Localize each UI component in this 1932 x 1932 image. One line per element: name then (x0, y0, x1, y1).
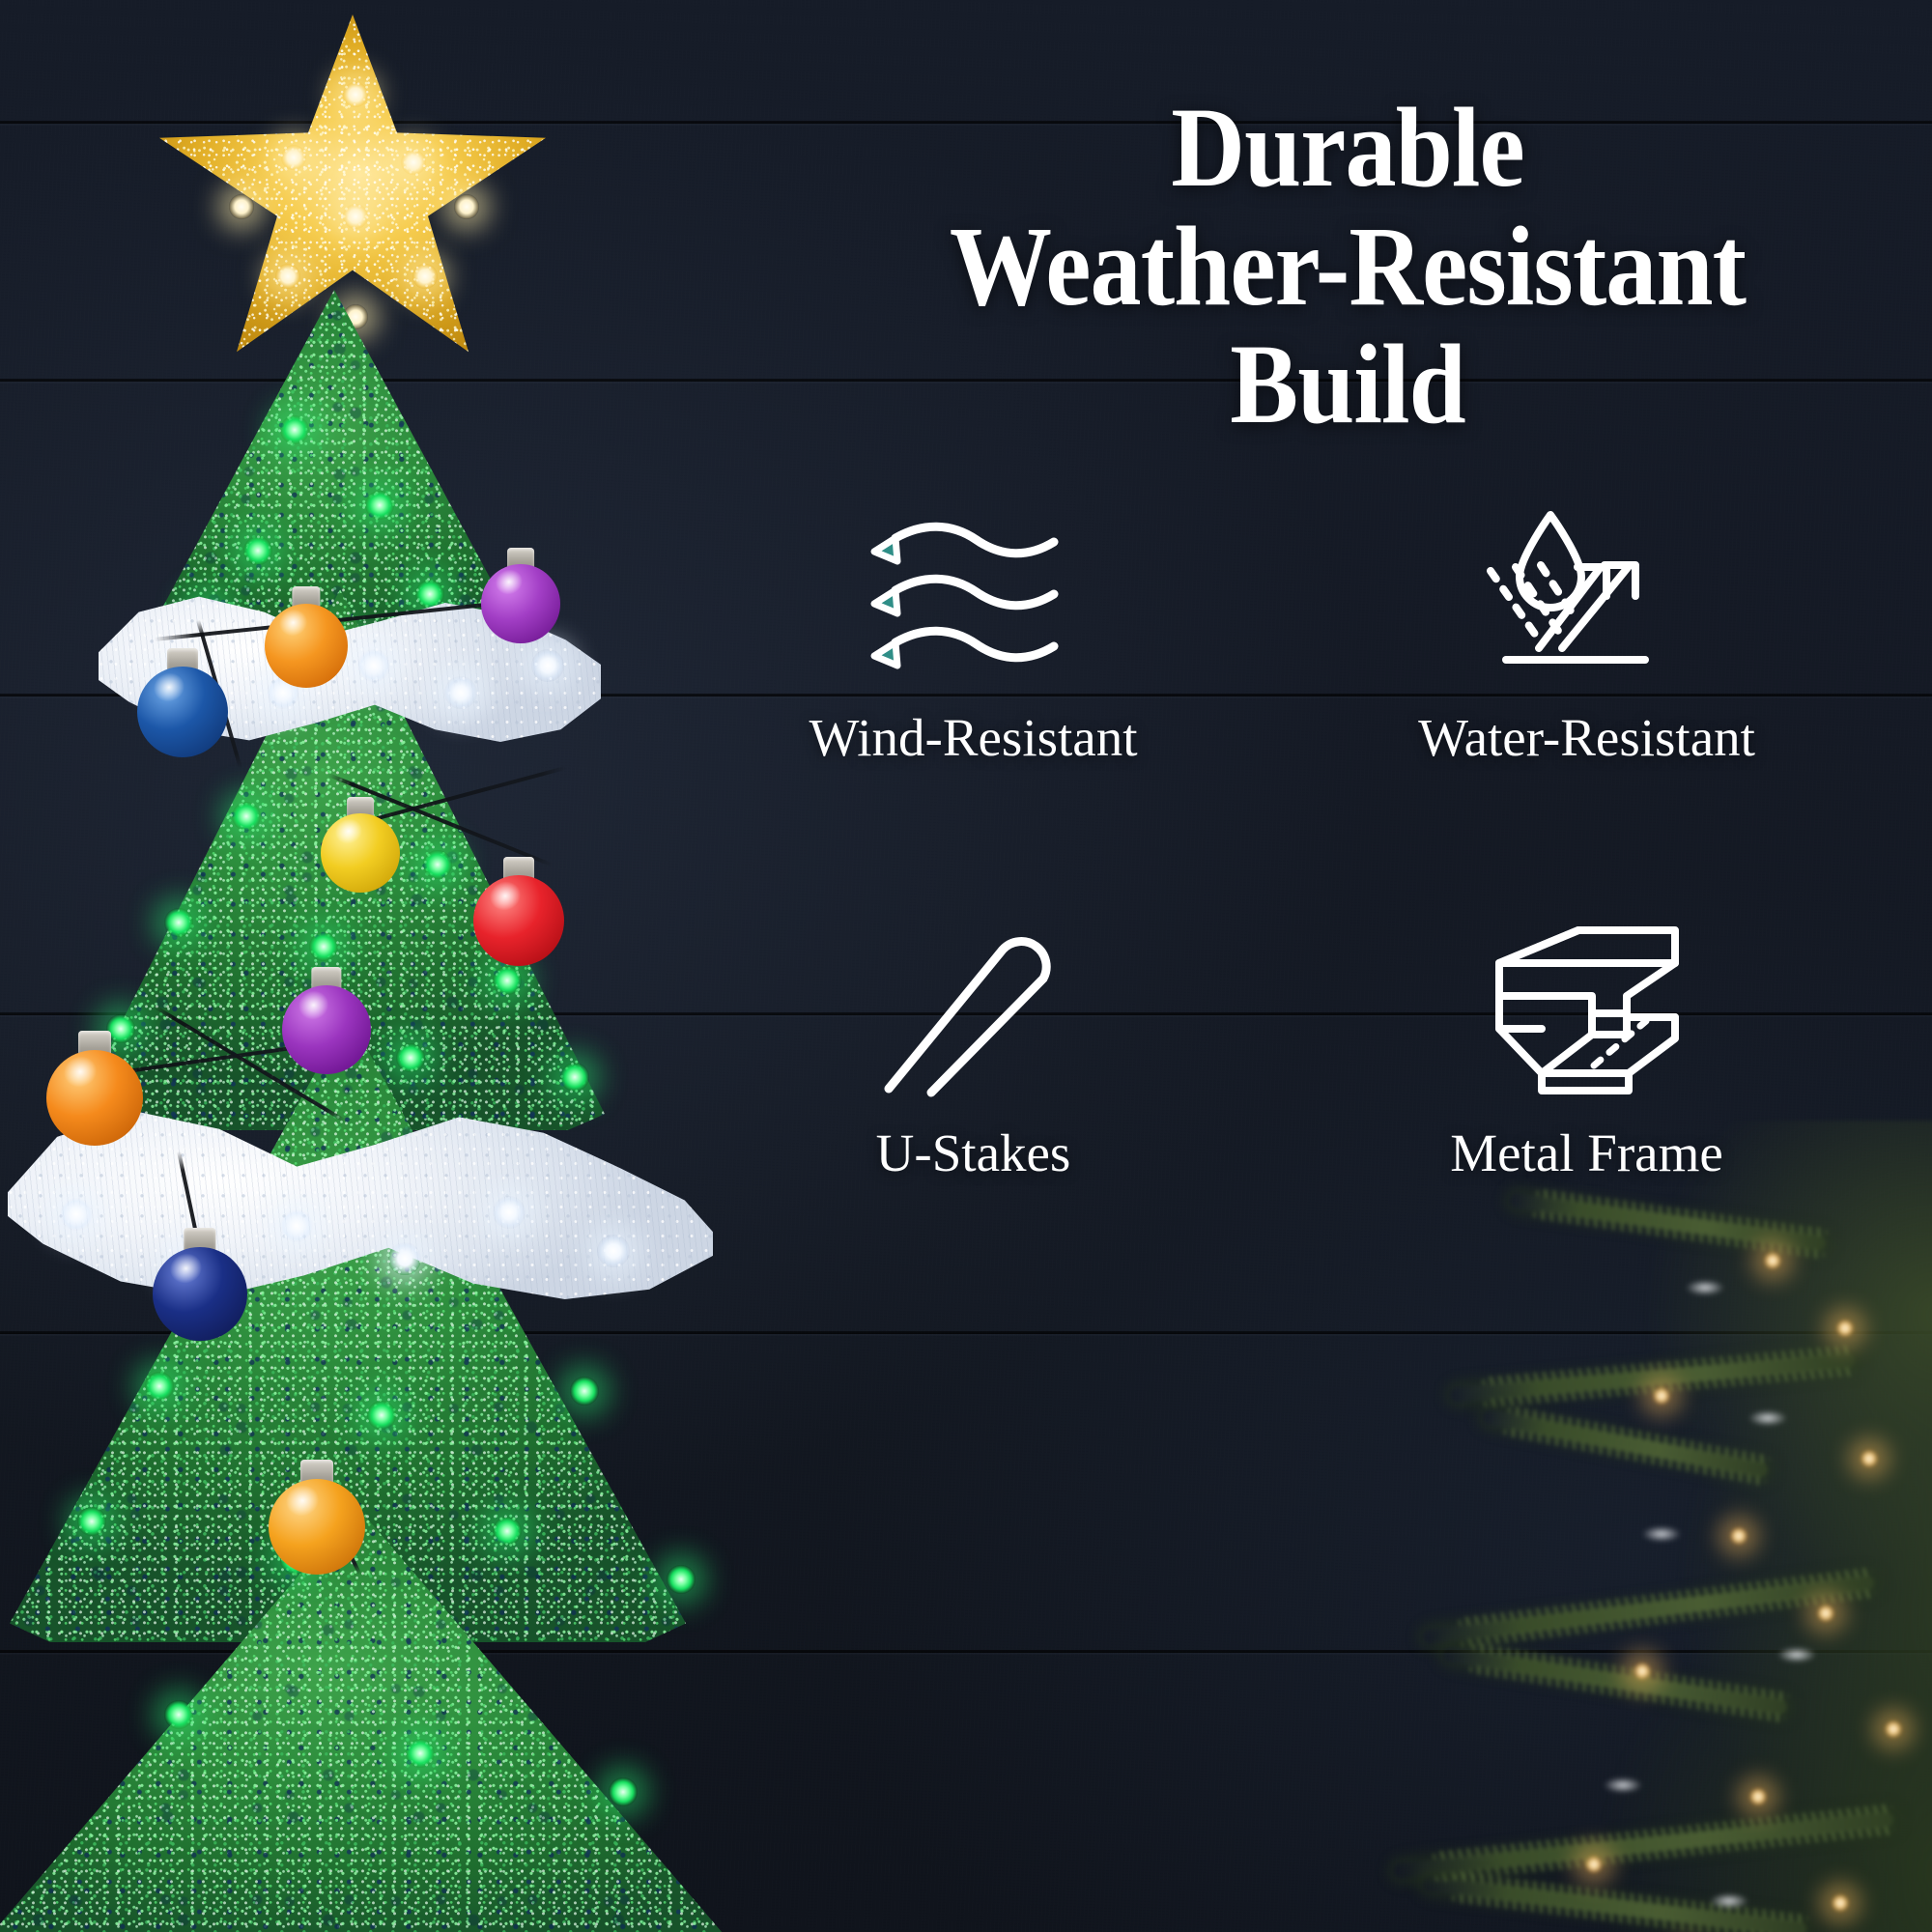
feature-list: Wind-Resistant (667, 502, 1893, 1207)
gold-star-topper (159, 14, 546, 362)
ornament-navy (153, 1229, 247, 1341)
star-led (275, 264, 300, 289)
tree-led-green (164, 1700, 193, 1729)
tree-led-green (406, 1739, 435, 1768)
snow-led-white (388, 1242, 421, 1275)
pine-snow-tip (1686, 1280, 1724, 1295)
snow-led-white (493, 1196, 526, 1229)
pine-warm-light (1633, 1662, 1652, 1681)
pine-warm-light (1831, 1893, 1850, 1913)
feature-label: Wind-Resistant (810, 711, 1138, 764)
water-droplet-repel-icon (1462, 502, 1713, 686)
tree-led-green (493, 966, 522, 995)
ornament-orange (46, 1032, 143, 1146)
feature-metal-frame: Metal Frame (1280, 918, 1893, 1207)
feature-label: Water-Resistant (1418, 711, 1755, 764)
headline-line-2: Weather-Resistant (831, 208, 1865, 327)
snow-led-white (531, 649, 564, 682)
pine-warm-light (1884, 1719, 1903, 1739)
pine-snow-tip (1642, 1526, 1681, 1542)
wind-lines-icon (848, 502, 1099, 686)
tree-led-green (367, 1401, 396, 1430)
snow-led-white (60, 1198, 93, 1231)
ornament-ball (265, 604, 348, 688)
ornament-blue (137, 649, 228, 757)
product-feature-graphic: Durable Weather-Resistant Build (0, 0, 1932, 1932)
tree-led-green (365, 491, 394, 520)
ornament-yellow (321, 798, 400, 893)
star-led (412, 264, 438, 289)
u-stake-icon (848, 918, 1099, 1101)
pine-snow-tip (1748, 1410, 1787, 1426)
ornament-orange (269, 1461, 365, 1575)
tree-led-green (232, 802, 261, 831)
snow-led-white (597, 1235, 630, 1267)
star-led (454, 194, 479, 219)
snow-led-white (444, 676, 477, 709)
star-led (401, 150, 426, 175)
ornament-purple (282, 968, 371, 1074)
snow-led-white (357, 649, 390, 682)
snow-led-white (280, 1209, 313, 1242)
ornament-purple (481, 549, 560, 643)
tree-led-green (145, 1372, 174, 1401)
pine-warm-light (1860, 1449, 1879, 1468)
tree-led-green (609, 1777, 638, 1806)
tree-led-green (415, 580, 444, 609)
pine-warm-light (1584, 1855, 1604, 1874)
feature-label: Metal Frame (1450, 1126, 1723, 1179)
tree-led-green (243, 536, 272, 565)
feature-water-resistant: Water-Resistant (1280, 502, 1893, 792)
tree-led-green (493, 1517, 522, 1546)
tree-led-green (280, 415, 309, 444)
tree-led-green (164, 908, 193, 937)
tree-led-green (309, 932, 338, 961)
background-pine-tree (1236, 1121, 1932, 1932)
ornament-orange (265, 587, 348, 688)
star-led (343, 204, 368, 229)
pine-warm-light (1816, 1604, 1835, 1623)
page-title: Durable Weather-Resistant Build (831, 89, 1865, 444)
tree-led-green (396, 1043, 425, 1072)
tree-led-green (423, 850, 452, 879)
pine-snow-tip (1777, 1647, 1816, 1662)
tree-led-green (570, 1377, 599, 1406)
ornament-red (473, 858, 564, 966)
tree-led-green (77, 1507, 106, 1536)
pine-snow-tip (1604, 1777, 1642, 1793)
feature-label: U-Stakes (876, 1126, 1071, 1179)
pine-warm-light (1652, 1386, 1671, 1406)
star-led (281, 145, 306, 170)
tree-led-green (560, 1063, 589, 1092)
tree-led-green (667, 1565, 696, 1594)
star-led (229, 194, 254, 219)
pine-warm-light (1835, 1319, 1855, 1338)
pine-warm-light (1729, 1526, 1748, 1546)
i-beam-icon (1462, 918, 1713, 1101)
feature-u-stakes: U-Stakes (667, 918, 1280, 1207)
feature-wind-resistant: Wind-Resistant (667, 502, 1280, 792)
pine-warm-light (1748, 1787, 1768, 1806)
headline-line-3: Build (831, 326, 1865, 444)
pine-snow-tip (1710, 1893, 1748, 1909)
star-led (343, 82, 368, 107)
pine-warm-light (1763, 1251, 1782, 1270)
headline-line-1: Durable (831, 89, 1865, 208)
